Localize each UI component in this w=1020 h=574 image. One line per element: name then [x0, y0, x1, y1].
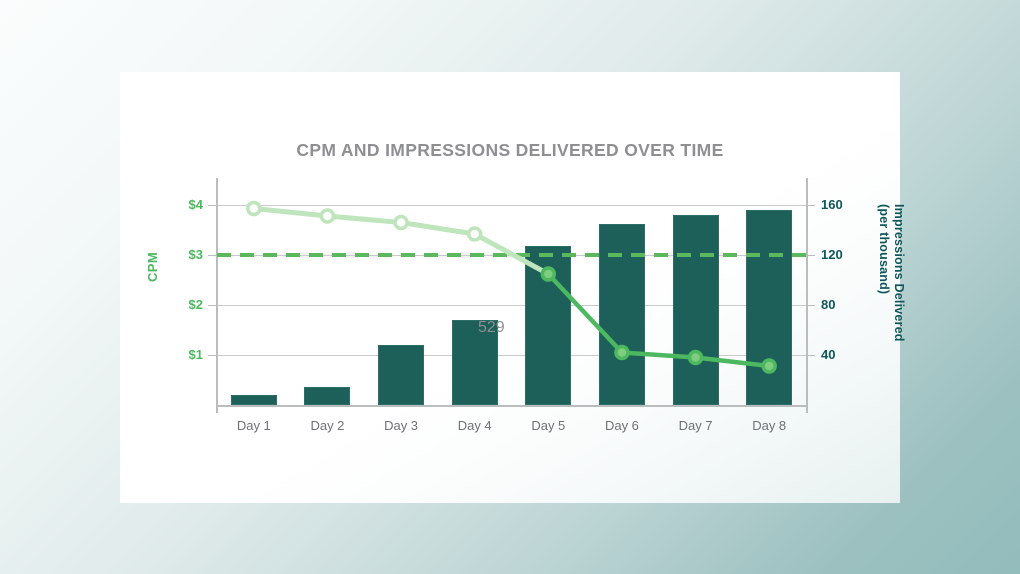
x-axis-label-day-5: Day 5	[511, 418, 585, 433]
y-axis-right-tick-label: 40	[821, 347, 867, 362]
y-axis-left-tick-label: $1	[157, 347, 203, 362]
cpm-marker-day-3[interactable]	[395, 217, 407, 229]
y-axis-right-tick-label: 120	[821, 247, 867, 262]
chart-card: CPM AND IMPRESSIONS DELIVERED OVER TIME …	[120, 72, 900, 503]
plot-area: $4$3$2$1 1601208040 CPM Impressions Deli…	[217, 186, 806, 405]
y-axis-left-tick-label: $3	[157, 247, 203, 262]
y-axis-right-title: Impressions Delivered (per thousand)	[886, 204, 906, 342]
bar-day-7[interactable]	[673, 215, 719, 405]
y-axis-right-tick	[806, 355, 815, 356]
y-axis-right-tick-label: 160	[821, 197, 867, 212]
bar-day-6[interactable]	[599, 224, 645, 405]
y-axis-right-tick	[806, 305, 815, 306]
x-axis-line	[216, 405, 807, 407]
y-axis-right-title-line1: Impressions Delivered	[892, 204, 906, 342]
bar-day-1[interactable]	[231, 395, 277, 405]
cpm-line-late	[548, 274, 769, 366]
y-axis-left-tick	[208, 205, 217, 206]
x-axis-label-day-6: Day 6	[585, 418, 659, 433]
cpm-line-early	[254, 209, 549, 275]
x-axis-label-day-2: Day 2	[290, 418, 364, 433]
y-axis-left-tick-label: $2	[157, 297, 203, 312]
x-axis-label-day-8: Day 8	[732, 418, 806, 433]
y-axis-left-tick	[208, 255, 217, 256]
y-axis-right-tick	[806, 205, 815, 206]
bar-value-annotation: 529	[478, 319, 522, 337]
gridline	[217, 205, 806, 206]
y-axis-left-tick	[208, 305, 217, 306]
y-axis-left-tick	[208, 355, 217, 356]
chart-title: CPM AND IMPRESSIONS DELIVERED OVER TIME	[120, 140, 900, 161]
x-axis-label-day-3: Day 3	[364, 418, 438, 433]
page-backdrop: CPM AND IMPRESSIONS DELIVERED OVER TIME …	[0, 0, 1020, 574]
y-axis-left-line	[216, 178, 218, 413]
cpm-marker-day-4[interactable]	[469, 228, 481, 240]
x-axis-label-day-7: Day 7	[659, 418, 733, 433]
y-axis-right-title-line2: (per thousand)	[877, 204, 891, 294]
x-axis-label-day-4: Day 4	[438, 418, 512, 433]
y-axis-left-tick-label: $4	[157, 197, 203, 212]
y-axis-left-title: CPM	[145, 252, 160, 282]
y-axis-right-tick	[806, 255, 815, 256]
y-axis-right-line	[806, 178, 808, 413]
bar-day-8[interactable]	[746, 210, 792, 405]
x-axis-label-day-1: Day 1	[217, 418, 291, 433]
cpm-marker-day-2[interactable]	[321, 210, 333, 222]
bar-day-3[interactable]	[378, 345, 424, 405]
y-axis-right-tick-label: 80	[821, 297, 867, 312]
bar-day-5[interactable]	[525, 246, 571, 405]
bar-day-2[interactable]	[304, 387, 350, 405]
